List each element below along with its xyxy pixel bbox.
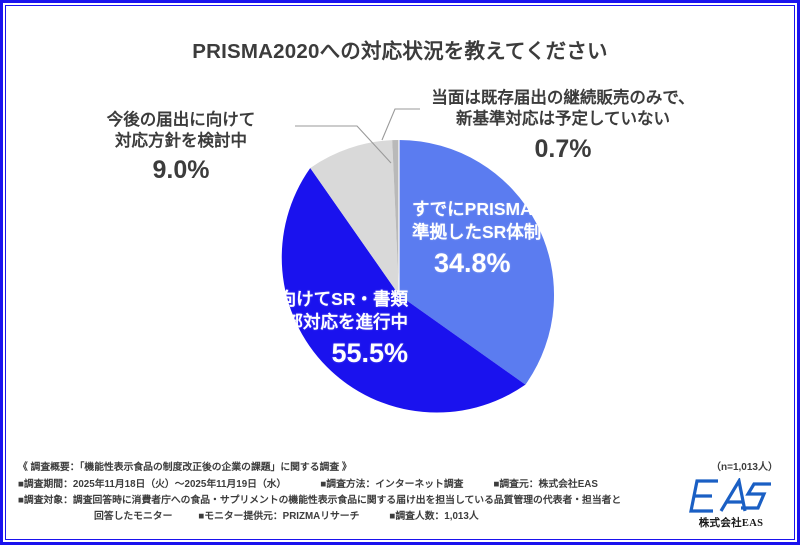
label-in-progress: 準拠に向けてSR・書類 など一部対応を進行中 55.5% [140, 288, 408, 371]
sample-size-note: （n=1,013人） [711, 458, 778, 473]
label-in-progress-pct: 55.5% [140, 336, 408, 371]
callout-under-consideration-pct: 9.0% [56, 154, 306, 187]
survey-overview: 《 調査概要：「機能性表示食品の制度改正後の企業の課題」に関する調査 》 ■調査… [18, 460, 698, 524]
label-already-compliant: すでにPRISMA2020に 準拠したSR体制を整備済み 34.8% [412, 198, 629, 281]
label-already-compliant-line1: すでにPRISMA2020に [412, 198, 629, 221]
survey-target: ■調査対象：調査回答時に消費者庁への食品・サプリメントの機能性表示食品に関する届… [18, 493, 621, 509]
callout-no-plan-line1: 当面は既存届出の継続販売のみで、 [408, 88, 718, 109]
eas-logo-icon [688, 478, 774, 514]
eas-logo-caption: 株式会社EAS [682, 515, 780, 530]
callout-under-consideration-line1: 今後の届出に向けて [56, 110, 306, 131]
callout-no-plan-pct: 0.7% [408, 133, 718, 166]
label-already-compliant-pct: 34.8% [434, 246, 629, 281]
survey-period: ■調査期間：2025年11月18日（火）〜2025年11月19日（水） [18, 477, 286, 493]
callout-no-plan: 当面は既存届出の継続販売のみで、 新基準対応は予定していない 0.7% [408, 88, 718, 165]
survey-monitor-provider: ■モニター提供元：PRIZMAリサーチ [198, 509, 359, 525]
survey-line-3: ■調査対象：調査回答時に消費者庁への食品・サプリメントの機能性表示食品に関する届… [18, 493, 698, 509]
survey-line-4: 回答したモニター■モニター提供元：PRIZMAリサーチ■調査人数：1,013人 [18, 509, 698, 525]
survey-target-cont: 回答したモニター [94, 509, 172, 525]
label-in-progress-line2: など一部対応を進行中 [140, 311, 408, 334]
survey-source: ■調査元：株式会社EAS [493, 477, 597, 493]
infographic-page: PRISMA2020への対応状況を教えてください 今後の届出に向けて 対応方針を… [0, 0, 800, 545]
page-title: PRISMA2020への対応状況を教えてください [0, 34, 800, 64]
survey-respondents: ■調査人数：1,013人 [389, 509, 478, 525]
eas-logo: 株式会社EAS [682, 478, 780, 530]
callout-under-consideration-line2: 対応方針を検討中 [56, 131, 306, 152]
callout-no-plan-line2: 新基準対応は予定していない [408, 109, 718, 130]
label-in-progress-line1: 準拠に向けてSR・書類 [140, 288, 408, 311]
label-already-compliant-line2: 準拠したSR体制を整備済み [412, 221, 629, 244]
callout-under-consideration: 今後の届出に向けて 対応方針を検討中 9.0% [56, 110, 306, 186]
survey-method: ■調査方法：インターネット調査 [320, 477, 463, 493]
survey-line-2: ■調査期間：2025年11月18日（火）〜2025年11月19日（水）■調査方法… [18, 477, 698, 493]
survey-heading: 《 調査概要：「機能性表示食品の制度改正後の企業の課題」に関する調査 》 [18, 460, 698, 476]
